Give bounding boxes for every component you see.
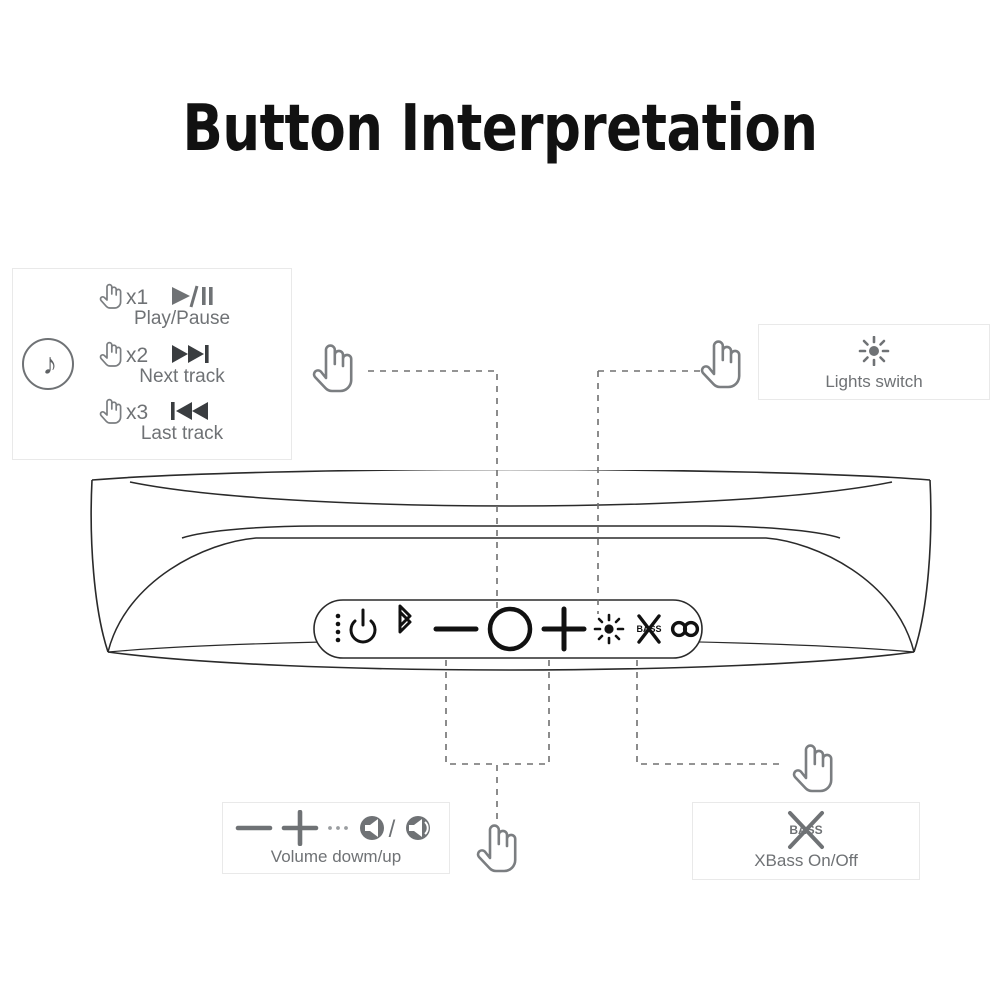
speaker-control-panel[interactable]: BASS	[312, 598, 704, 660]
brightness-sun-icon	[852, 336, 896, 366]
tap-count: x2	[126, 344, 148, 368]
previous-track-icon	[168, 397, 224, 425]
dots-separator	[328, 826, 348, 830]
speaker-high-icon	[406, 816, 430, 840]
tap-hand-icon	[96, 280, 126, 310]
tap-count: x3	[126, 401, 148, 425]
list-item-label: Next track	[92, 366, 272, 388]
music-note-glyph: ♪	[24, 340, 76, 392]
xbass-icon-text: BASS	[636, 624, 661, 634]
brightness-sun-icon	[595, 615, 623, 643]
bluetooth-speaker-illustration	[86, 470, 936, 700]
list-item-label: Last track	[92, 423, 272, 445]
slash-divider: /	[389, 816, 396, 843]
page-root: Button Interpretation	[0, 0, 1000, 1000]
tap-hand-icon	[96, 395, 126, 425]
play-pause-icon	[168, 282, 224, 310]
list-item: x2 Next track	[96, 340, 286, 395]
list-item: x1 Play/Pause	[96, 282, 286, 337]
tap-hand-icon	[470, 818, 526, 878]
tap-count: x1	[126, 286, 148, 310]
page-title: Button Interpretation	[40, 92, 960, 166]
tap-hand-icon	[786, 738, 842, 798]
lights-switch-label: Lights switch	[758, 372, 990, 392]
tap-hand-icon	[96, 338, 126, 368]
tap-hand-icon	[694, 334, 750, 394]
next-track-icon	[168, 340, 224, 368]
xbass-icon-text: BASS	[789, 823, 822, 837]
music-note-icon: ♪	[22, 338, 74, 390]
xbass-icon: BASS	[780, 808, 832, 852]
list-item-label: Play/Pause	[92, 308, 272, 330]
volume-icons-group: /	[232, 810, 440, 846]
xbass-label: XBass On/Off	[692, 851, 920, 871]
plus-icon	[284, 812, 316, 844]
tap-hand-icon	[306, 338, 362, 398]
volume-label: Volume dowm/up	[222, 847, 450, 867]
list-item: x3 Last track	[96, 397, 286, 452]
speaker-low-icon	[360, 816, 384, 840]
